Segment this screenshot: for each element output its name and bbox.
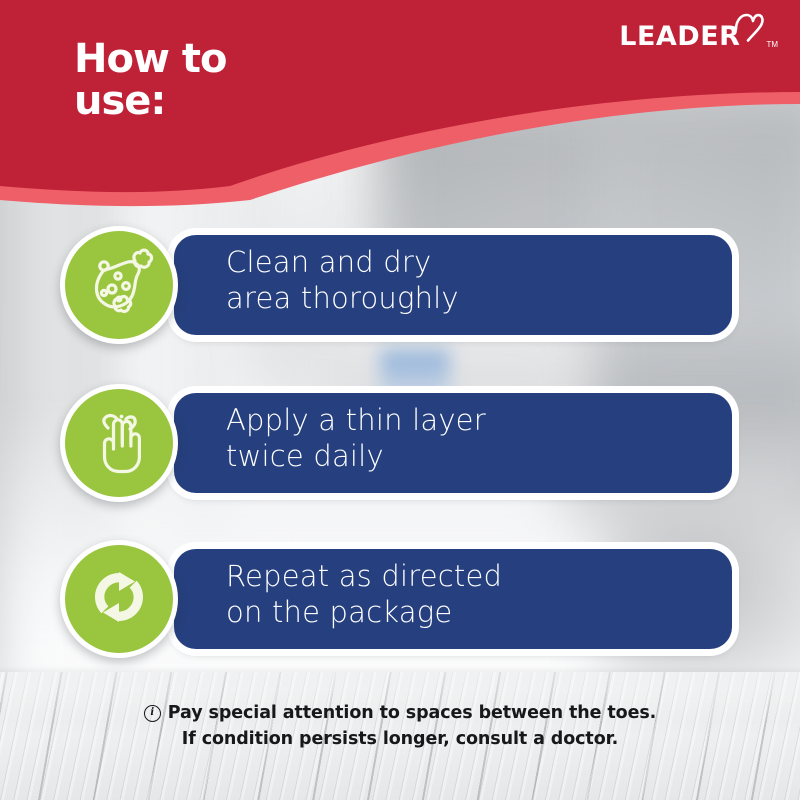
step-item-3: Repeat as directed on the package bbox=[60, 540, 680, 658]
repeat-arrows-icon bbox=[60, 540, 178, 658]
footer-note: i Pay special attention to spaces betwee… bbox=[0, 700, 800, 752]
step-item-2: Apply a thin layer twice daily bbox=[60, 384, 680, 502]
footer-line-1: Pay special attention to spaces between … bbox=[168, 700, 656, 726]
step-label-3: Repeat as directed on the package bbox=[226, 558, 696, 630]
hand-applying-cream-icon bbox=[60, 384, 178, 502]
steps-list: Clean and dry area thoroughly bbox=[0, 0, 800, 800]
infographic-canvas: How touse: LEADER TM Clean and dry area … bbox=[0, 0, 800, 800]
step-label-1: Clean and dry area thoroughly bbox=[226, 244, 696, 316]
footer-line-2: If condition persists longer, consult a … bbox=[0, 726, 800, 752]
step-item-1: Clean and dry area thoroughly bbox=[60, 226, 680, 344]
info-icon: i bbox=[144, 705, 161, 722]
step-label-2: Apply a thin layer twice daily bbox=[226, 402, 696, 474]
sponge-bubbles-icon bbox=[60, 226, 178, 344]
